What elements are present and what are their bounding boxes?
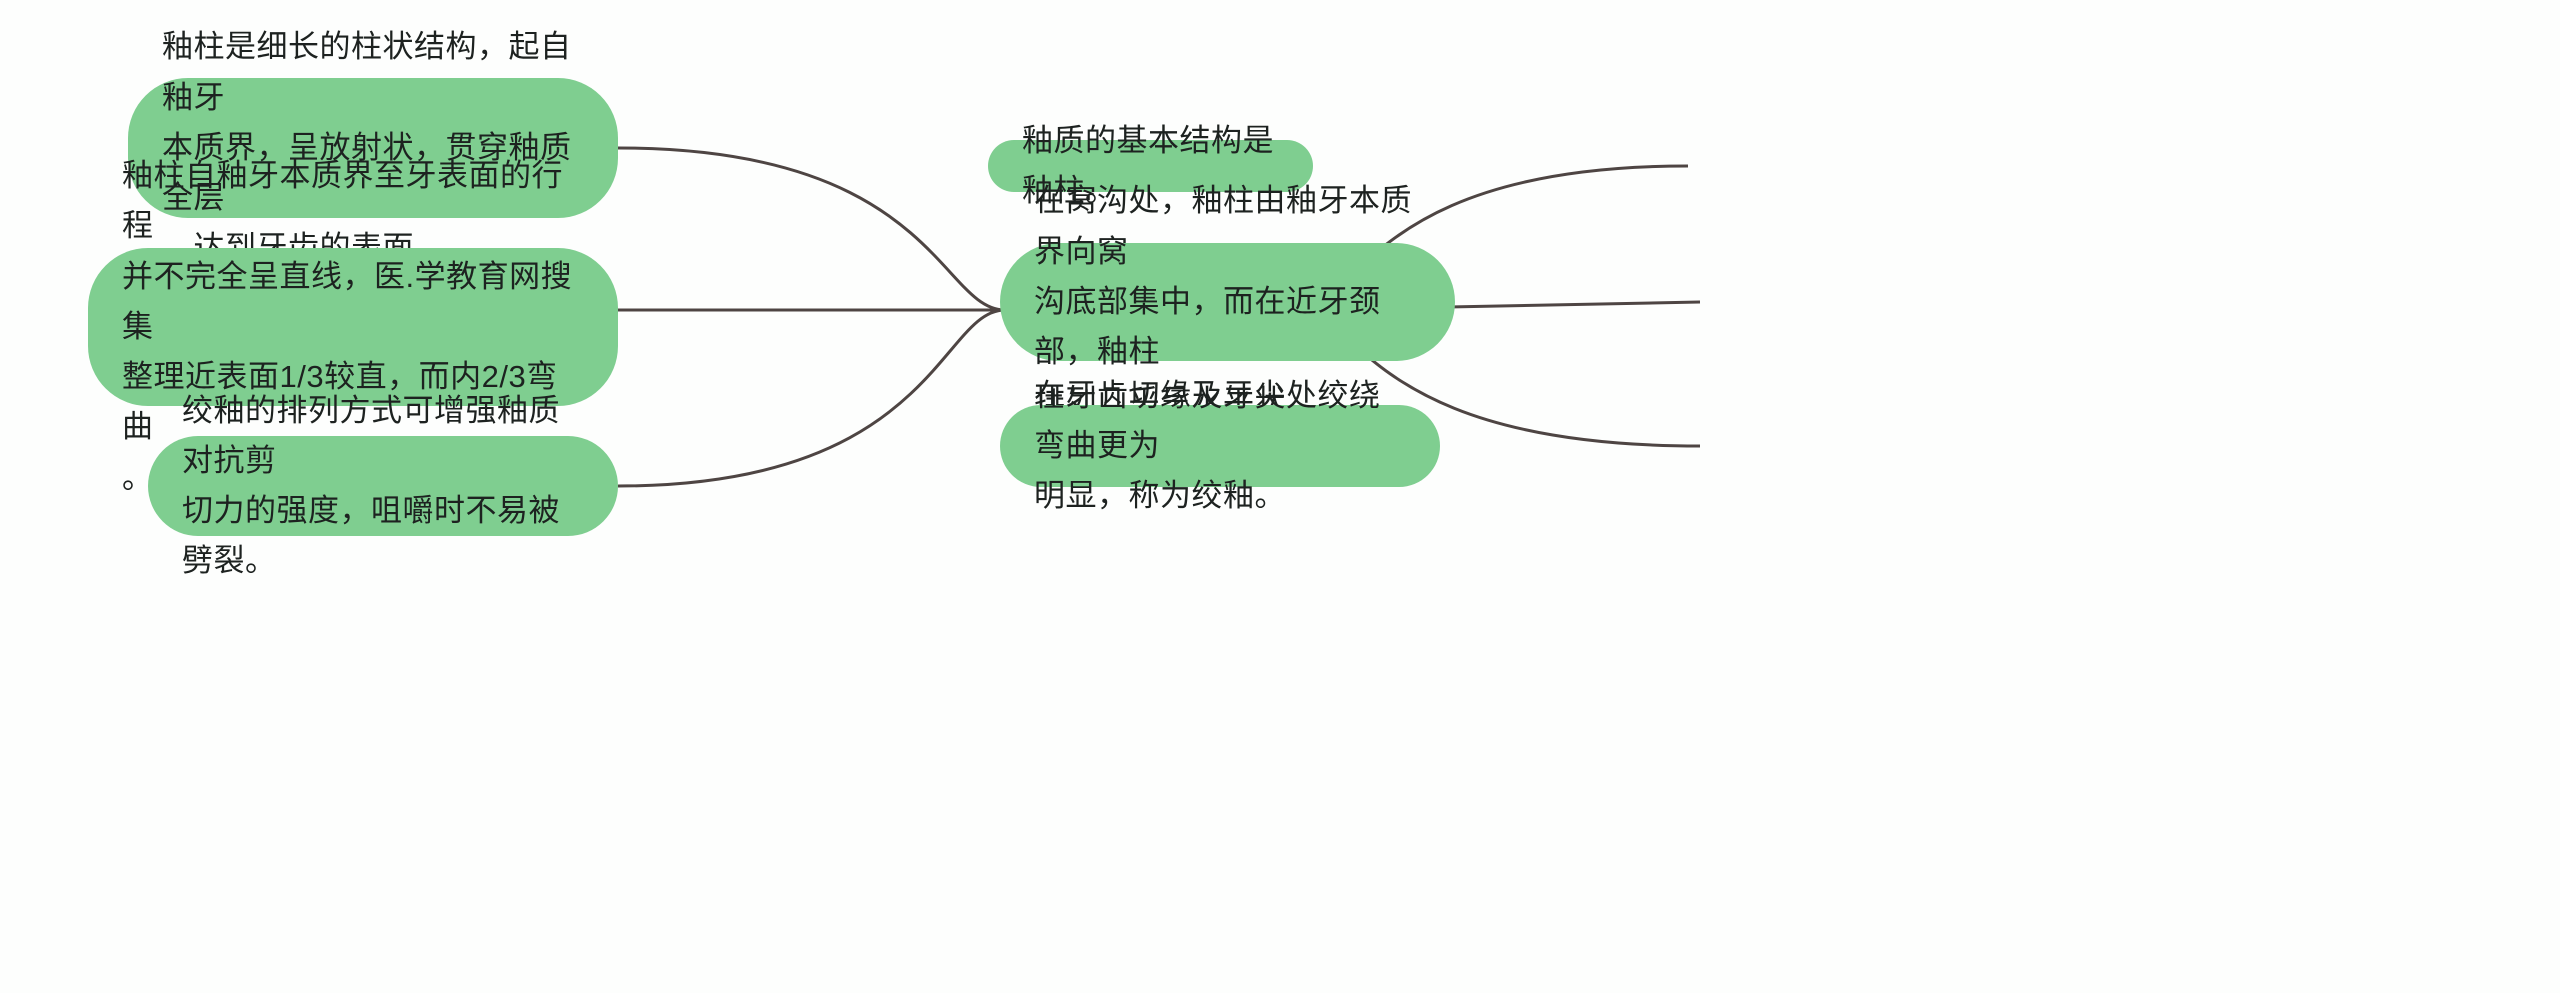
branch-node-left-3-label: 绞釉的排列方式可增强釉质对抗剪 切力的强度，咀嚼时不易被劈裂。 (182, 386, 584, 587)
connector-left-1 (618, 148, 1005, 310)
branch-node-left-3[interactable]: 绞釉的排列方式可增强釉质对抗剪 切力的强度，咀嚼时不易被劈裂。 (148, 436, 618, 536)
branch-node-right-2[interactable]: 在窝沟处，釉柱由釉牙本质界向窝 沟底部集中，而在近牙颈部，釉柱 排列几乎呈水平状… (1000, 243, 1455, 361)
mind-map-canvas: 釉柱是细长的柱状结构，起自釉牙 本质界，呈放射状，贯穿釉质全层 ，达到牙齿的表面… (0, 0, 2560, 993)
branch-node-right-3-label: 在牙齿切缘及牙尖处绞绕弯曲更为 明显，称为绞釉。 (1034, 371, 1406, 522)
branch-node-left-2[interactable]: 釉柱自釉牙本质界至牙表面的行程 并不完全呈直线，医.学教育网搜集 整理近表面1/… (88, 248, 618, 406)
connector-left-3 (618, 310, 1005, 486)
branch-node-right-3[interactable]: 在牙齿切缘及牙尖处绞绕弯曲更为 明显，称为绞釉。 (1000, 405, 1440, 487)
